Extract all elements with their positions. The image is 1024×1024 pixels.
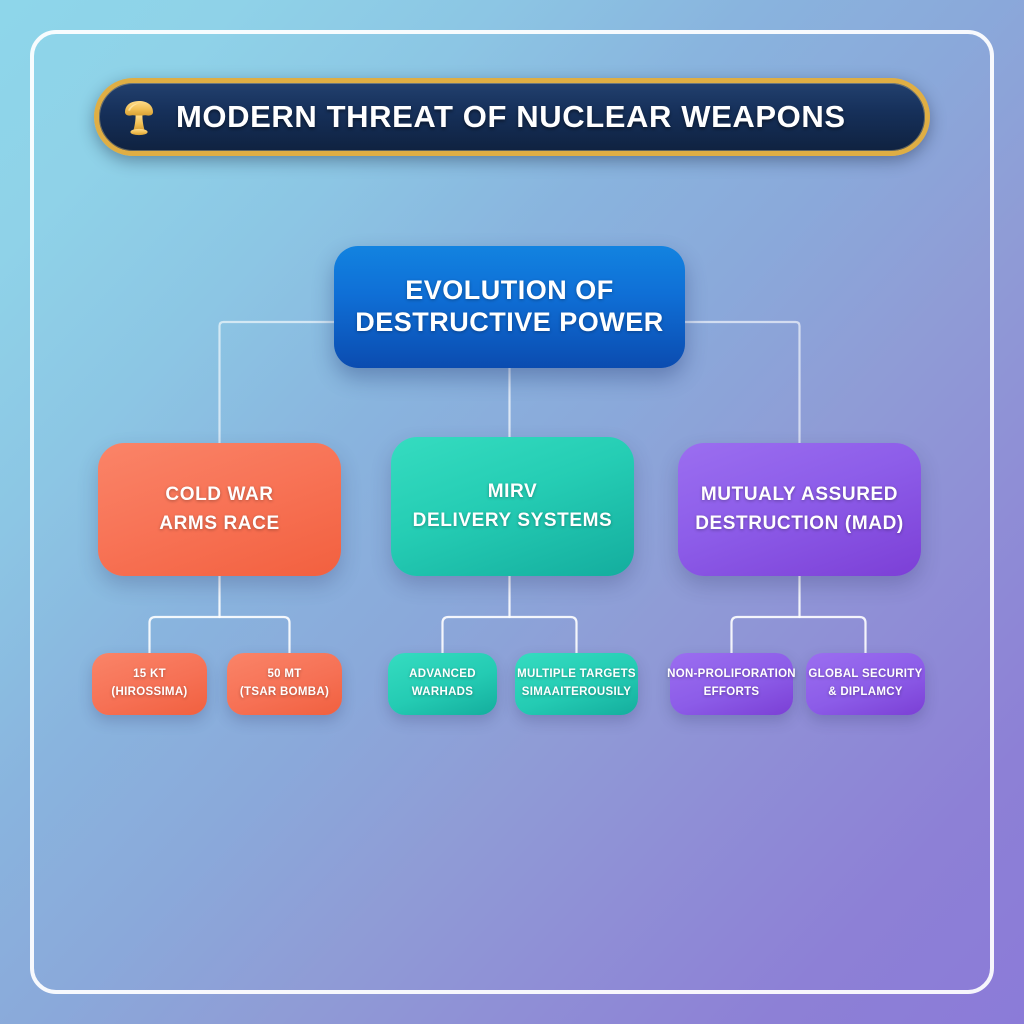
node-label-line2: & DIPLAMCY: [828, 684, 903, 702]
node-label-line2: (HIROSSIMA): [111, 684, 187, 702]
node-evolution-of-destructive-power[interactable]: EVOLUTION OF DESTRUCTIVE POWER: [334, 246, 685, 368]
node-label-line1: ADVANCED: [409, 666, 476, 684]
node-label-line1: MUTUALY ASSURED: [701, 481, 898, 510]
infographic-canvas: MODERN THREAT OF NUCLEAR WEAPONS EVOLUTI…: [0, 0, 1024, 1024]
node-advanced-warheads[interactable]: ADVANCED WARHADS: [388, 653, 497, 715]
node-mirv-delivery-systems[interactable]: MIRV DELIVERY SYSTEMS: [391, 437, 634, 576]
node-label-line1: MULTIPLE TARGETS: [517, 666, 636, 684]
node-label-line1: COLD WAR: [165, 481, 273, 510]
node-label-line2: SIMAAITEROUSILY: [522, 684, 632, 702]
title-banner-content: MODERN THREAT OF NUCLEAR WEAPONS: [94, 78, 930, 156]
node-label-line1: 50 MT: [267, 666, 301, 684]
node-mutually-assured-destruction[interactable]: MUTUALY ASSURED DESTRUCTION (MAD): [678, 443, 921, 576]
node-label-line2: ARMS RACE: [159, 510, 279, 539]
node-label-line2: (TSAR BOMBA): [240, 684, 329, 702]
page-title: MODERN THREAT OF NUCLEAR WEAPONS: [176, 99, 846, 135]
node-label-line1: GLOBAL SECURITY: [808, 666, 922, 684]
node-label-line2: EFFORTS: [704, 684, 760, 702]
node-label-line2: DESTRUCTION (MAD): [695, 510, 904, 539]
node-cold-war-arms-race[interactable]: COLD WAR ARMS RACE: [98, 443, 341, 576]
node-non-proliferation-efforts[interactable]: NON-PROLIFORATION EFFORTS: [670, 653, 793, 715]
node-label-line2: WARHADS: [412, 684, 474, 702]
node-label-line1: EVOLUTION OF: [405, 275, 614, 307]
node-50-mt-tsar-bomba[interactable]: 50 MT (TSAR BOMBA): [227, 653, 342, 715]
node-label-line1: NON-PROLIFORATION: [667, 666, 796, 684]
node-label-line1: MIRV: [488, 478, 538, 507]
node-multiple-targets-simultaneously[interactable]: MULTIPLE TARGETS SIMAAITEROUSILY: [515, 653, 638, 715]
node-label-line2: DESTRUCTIVE POWER: [355, 307, 664, 339]
node-global-security-diplomacy[interactable]: GLOBAL SECURITY & DIPLAMCY: [806, 653, 925, 715]
mushroom-cloud-icon: [122, 97, 156, 137]
node-label-line2: DELIVERY SYSTEMS: [413, 507, 613, 536]
node-label-line1: 15 KT: [133, 666, 166, 684]
node-15-kt-hiroshima[interactable]: 15 KT (HIROSSIMA): [92, 653, 207, 715]
